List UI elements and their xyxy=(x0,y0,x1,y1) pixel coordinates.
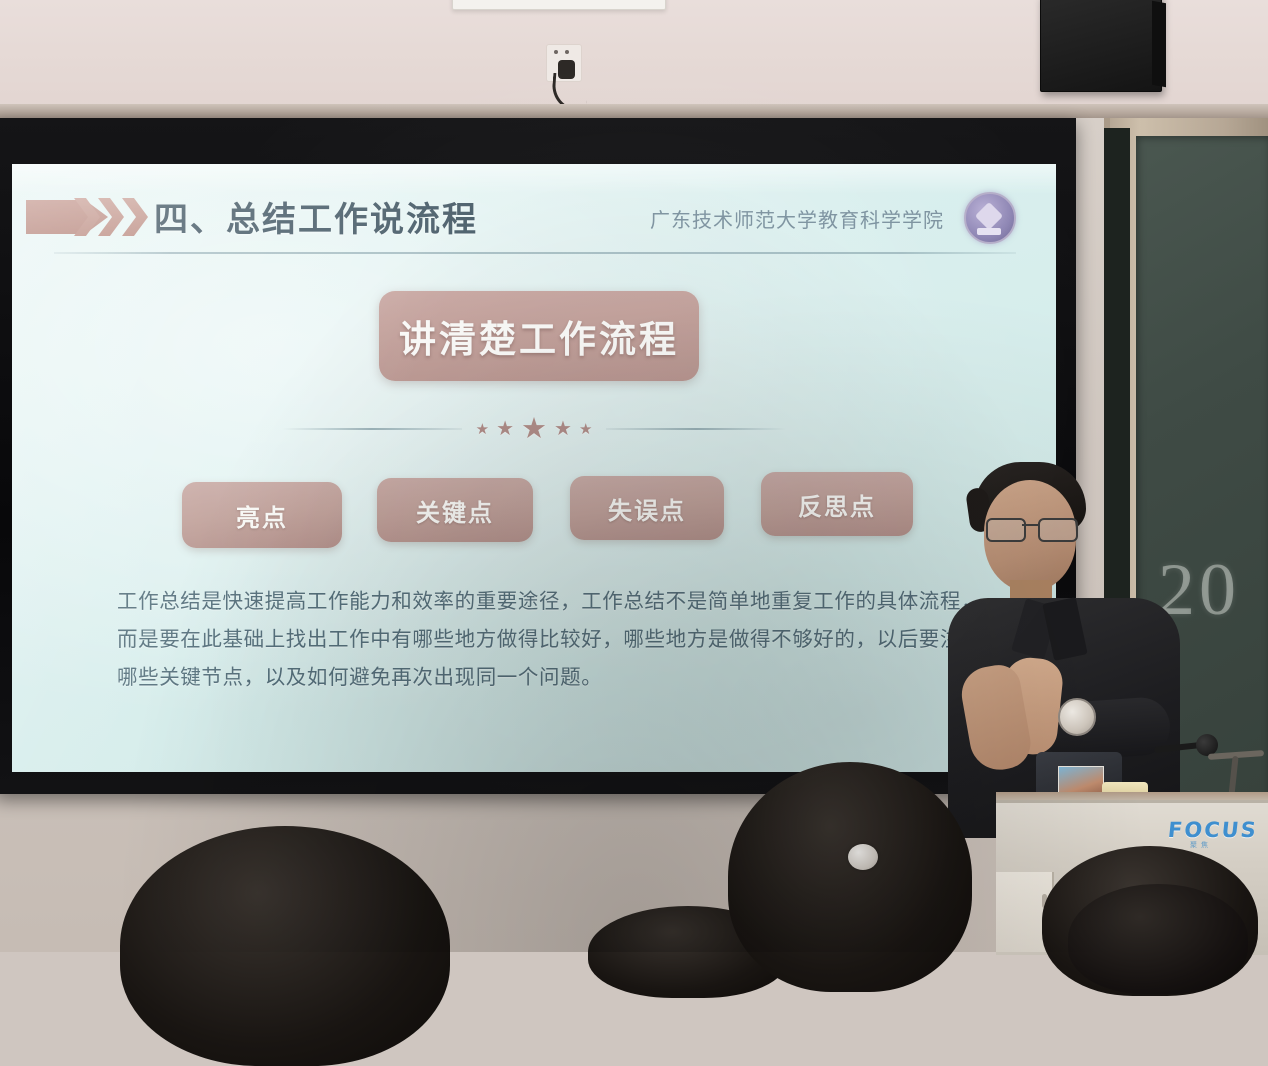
glasses-bridge xyxy=(1022,524,1038,526)
key-point-label: 失误点 xyxy=(608,491,686,526)
hair-clip xyxy=(848,844,878,870)
organization-name: 广东技术师范大学教育科学学院 xyxy=(650,204,944,233)
key-point-box-highlight[interactable]: 亮点 xyxy=(182,482,342,548)
star-icon: ★ xyxy=(476,422,489,437)
presentation-slide[interactable]: 四、总结工作说流程 广东技术师范大学教育科学学院 讲清楚工作流程 ★ ★ ★ ★… xyxy=(12,164,1056,772)
classroom-scene: 20 四、总结工作说流程 广东技术师范大学教育科学学院 讲清楚工作流程 xyxy=(0,0,1268,952)
star-icon: ★ xyxy=(579,422,592,437)
key-point-label: 亮点 xyxy=(236,498,288,533)
key-point-row: 亮点 关键点 失误点 反思点 xyxy=(12,476,1056,552)
projection-screen-bezel: 四、总结工作说流程 广东技术师范大学教育科学学院 讲清楚工作流程 ★ ★ ★ ★… xyxy=(0,118,1076,794)
paragraph-line-3: 哪些关键节点，以及如何避免再次出现同一个问题。 xyxy=(117,658,967,696)
wristwatch xyxy=(1058,698,1096,736)
star-icon: ★ xyxy=(521,415,547,444)
slide-header: 四、总结工作说流程 广东技术师范大学教育科学学院 xyxy=(12,184,1056,248)
slide-paragraph: 工作总结是快速提高工作能力和效率的重要途径，工作总结不是简单地重复工作的具体流程… xyxy=(117,582,967,696)
slide-section-title: 四、总结工作说流程 xyxy=(154,192,478,241)
podium-brand-sublabel: 聚 焦 xyxy=(1190,840,1209,850)
hero-title-box: 讲清楚工作流程 xyxy=(379,291,699,381)
star-icon: ★ xyxy=(496,419,514,439)
paragraph-line-1: 工作总结是快速提高工作能力和效率的重要途径，工作总结不是简单地重复工作的具体流程… xyxy=(117,582,967,620)
header-divider-rule xyxy=(54,252,1016,254)
glasses-icon xyxy=(986,518,1078,538)
chevron-right-icon xyxy=(122,198,148,236)
wall-speaker xyxy=(1040,0,1162,92)
wall-speaker-side xyxy=(1152,1,1166,87)
paragraph-line-2: 而是要在此基础上找出工作中有哪些地方做得比较好，哪些地方是做得不够好的，以后要注… xyxy=(117,620,967,658)
key-point-box-reflection[interactable]: 反思点 xyxy=(761,472,913,536)
divider-line-right xyxy=(606,428,786,430)
key-point-label: 反思点 xyxy=(798,487,876,522)
star-group: ★ ★ ★ ★ ★ xyxy=(476,415,593,444)
audience-head xyxy=(120,826,450,1066)
key-point-label: 关键点 xyxy=(416,493,494,528)
audience-head xyxy=(1068,884,1248,994)
divider-line-left xyxy=(282,428,462,430)
star-icon: ★ xyxy=(554,419,572,439)
key-point-box-mistake[interactable]: 失误点 xyxy=(570,476,724,540)
hero-title-text: 讲清楚工作流程 xyxy=(399,309,679,363)
audience-head xyxy=(728,762,972,992)
ceiling-panel xyxy=(452,0,666,10)
key-point-box-keypoint[interactable]: 关键点 xyxy=(377,478,533,542)
podium-brand-logo: FOCUS xyxy=(1167,818,1259,842)
star-divider: ★ ★ ★ ★ ★ xyxy=(12,412,1056,446)
university-emblem-icon xyxy=(964,192,1016,244)
